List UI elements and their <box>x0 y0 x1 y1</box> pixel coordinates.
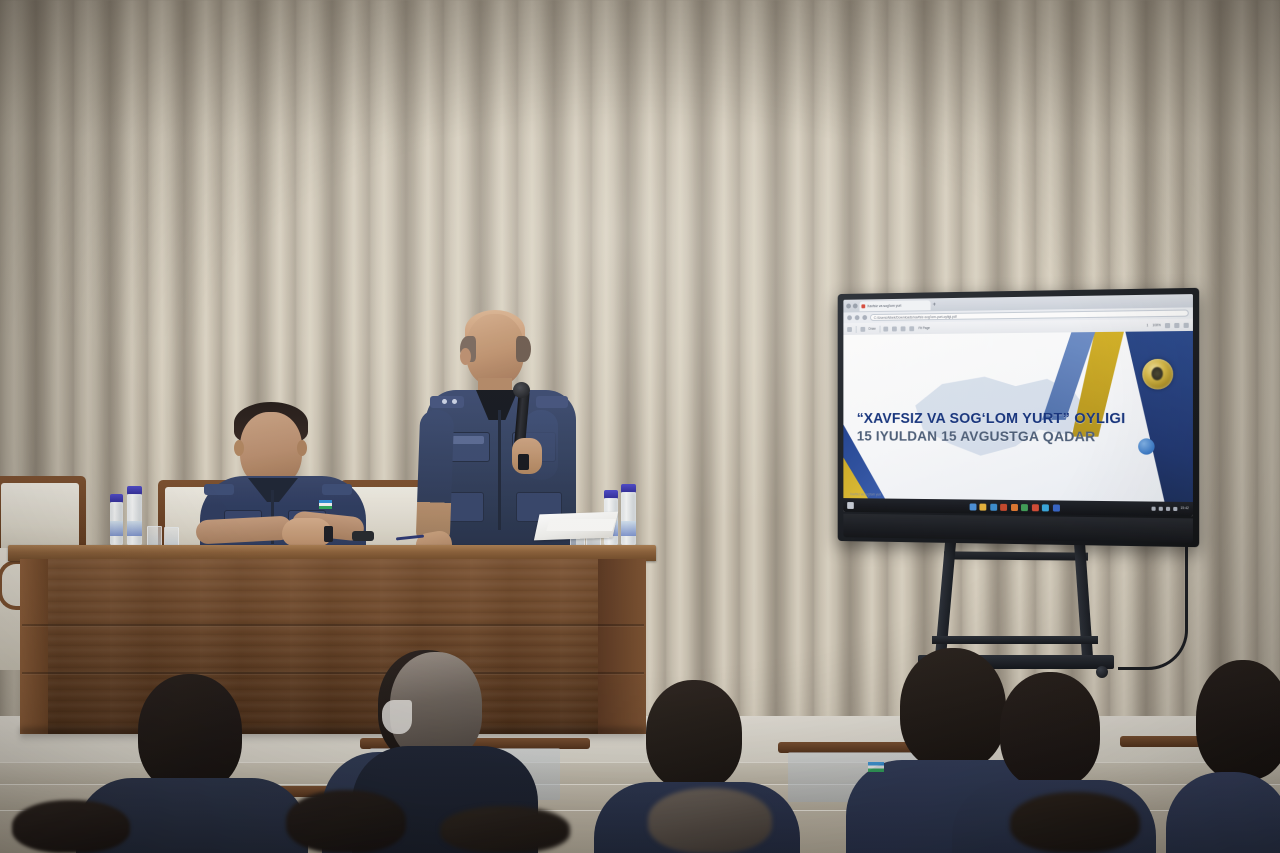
water-bottle <box>621 484 636 546</box>
rank-star-icon <box>452 399 457 404</box>
chrome-icon[interactable] <box>970 503 977 510</box>
microphone-capsule-icon <box>513 382 530 398</box>
speaker-left-arm <box>416 409 455 542</box>
water-bottle <box>110 494 123 546</box>
word-icon[interactable] <box>1001 503 1008 510</box>
browser-tab-title: Xavfsiz va sog'lom yurt <box>867 303 901 307</box>
document-sheet <box>546 519 615 531</box>
text-icon[interactable] <box>892 326 897 331</box>
zoom-level-label[interactable]: 100% <box>1152 323 1160 327</box>
eraser-icon[interactable] <box>910 326 915 331</box>
speaker-ear <box>460 348 471 365</box>
uniform-nameplate <box>452 436 484 444</box>
forward-icon[interactable] <box>855 315 860 320</box>
speaker-hair <box>516 336 531 362</box>
audience-head <box>1000 672 1100 788</box>
pdf-icon[interactable] <box>1032 504 1039 511</box>
audience-head <box>286 790 406 853</box>
shoulder-board <box>322 484 352 495</box>
shoulder-board <box>204 484 234 495</box>
pdf-status-label: Xavfsiz va sog'lom yurt <box>850 493 881 497</box>
download-icon[interactable] <box>1184 322 1189 327</box>
highlight-icon[interactable] <box>884 326 889 331</box>
audience-head <box>900 648 1006 770</box>
clock-time: 15:42 <box>1180 506 1188 510</box>
page-number-input[interactable]: 1 <box>1146 323 1148 327</box>
keyboard-icon[interactable] <box>1173 507 1177 511</box>
slide-title-block: “XAVFSIZ VA SOG‘LOM YURT” OYLIGI 15 IYUL… <box>857 411 1135 445</box>
table-side-panel <box>20 559 48 734</box>
shoulder-board <box>536 396 568 408</box>
face-mask <box>382 700 412 734</box>
volume-icon[interactable] <box>1159 507 1163 511</box>
system-tray: 15:42 <box>1152 507 1189 512</box>
seated-officer-arm <box>195 516 292 545</box>
network-icon[interactable] <box>1152 507 1156 511</box>
new-tab-button[interactable]: + <box>933 302 936 308</box>
bottle-label <box>110 521 123 536</box>
shoulder-board <box>430 396 464 408</box>
desk-object <box>352 531 374 541</box>
edge-icon[interactable] <box>990 503 997 510</box>
seated-officer-ear <box>234 440 244 456</box>
back-icon[interactable] <box>847 315 852 320</box>
display-bezel: Xavfsiz va sog'lom yurt + C:/Users/Aibek… <box>843 294 1193 516</box>
store-icon[interactable] <box>1053 504 1060 511</box>
print-icon[interactable] <box>1174 322 1179 327</box>
table-panel-seam <box>22 624 644 626</box>
search-icon[interactable] <box>1165 323 1170 328</box>
window-icon <box>846 304 851 309</box>
presidium-table-front <box>20 559 646 734</box>
window-icon <box>853 303 858 308</box>
wristwatch <box>324 526 333 542</box>
water-bottle <box>127 486 142 546</box>
presentation-slide: “XAVFSIZ VA SOG‘LOM YURT” OYLIGI 15 IYUL… <box>843 331 1193 502</box>
menu-icon[interactable] <box>847 327 852 332</box>
reload-icon[interactable] <box>862 315 867 320</box>
pencil-icon[interactable] <box>860 326 865 331</box>
display-stand-crossbar <box>932 636 1098 644</box>
smart-display[interactable]: Xavfsiz va sog'lom yurt + C:/Users/Aibek… <box>838 288 1200 547</box>
audience-head <box>648 788 772 853</box>
browser-tab[interactable]: Xavfsiz va sog'lom yurt <box>860 300 931 311</box>
audience-head <box>1196 660 1280 780</box>
wristwatch <box>518 454 529 470</box>
display-power-cable <box>1118 540 1188 670</box>
photos-icon[interactable] <box>1011 503 1018 510</box>
uzbekistan-flag-patch <box>319 500 332 509</box>
bottle-label <box>621 521 636 536</box>
state-emblem-icon <box>1142 358 1173 389</box>
bottle-body <box>621 492 636 546</box>
slide-title-line-2: 15 IYULDAN 15 AVGUSTGA QADAR <box>857 428 1135 445</box>
uniform-zipper <box>498 410 501 530</box>
display-stand-bracket <box>944 551 1088 560</box>
audience-head <box>440 806 570 853</box>
toolbar-draw-label[interactable]: Draw <box>869 327 876 331</box>
seated-officer-ear <box>297 440 307 456</box>
rank-star-icon <box>442 399 447 404</box>
uzbekistan-flag-patch <box>868 762 884 772</box>
audience-head <box>646 680 742 790</box>
toolbar-spacer <box>934 325 1142 328</box>
shapes-icon[interactable] <box>901 326 906 331</box>
explorer-icon[interactable] <box>980 503 987 510</box>
table-side-panel <box>598 559 646 734</box>
excel-icon[interactable] <box>1021 504 1028 511</box>
taskbar-clock[interactable]: 15:42 <box>1180 507 1188 511</box>
audience-head <box>1010 792 1140 853</box>
slide-decorative-dot <box>1138 439 1154 455</box>
slide-title-line-1: “XAVFSIZ VA SOG‘LOM YURT” OYLIGI <box>857 411 1135 427</box>
favicon-icon <box>861 304 865 308</box>
audience-head <box>12 800 130 853</box>
taskbar-app-group <box>970 503 1060 511</box>
display-screen[interactable]: Xavfsiz va sog'lom yurt + C:/Users/Aibek… <box>843 294 1193 516</box>
photograph-scene: Xavfsiz va sog'lom yurt + C:/Users/Aibek… <box>0 0 1280 853</box>
bottle-body <box>127 494 142 546</box>
audience-head <box>138 674 242 792</box>
battery-icon[interactable] <box>1166 507 1170 511</box>
display-chin <box>843 514 1193 543</box>
telegram-icon[interactable] <box>1042 504 1049 511</box>
bottle-label <box>127 521 142 536</box>
toolbar-fitpage-label[interactable]: Fit Page <box>918 326 929 330</box>
stand-caster-wheel <box>1096 666 1108 678</box>
seated-officer-head <box>240 412 302 486</box>
windows-start-icon[interactable] <box>847 502 854 509</box>
seated-officer <box>196 392 366 552</box>
table-panel-seam <box>22 672 644 674</box>
